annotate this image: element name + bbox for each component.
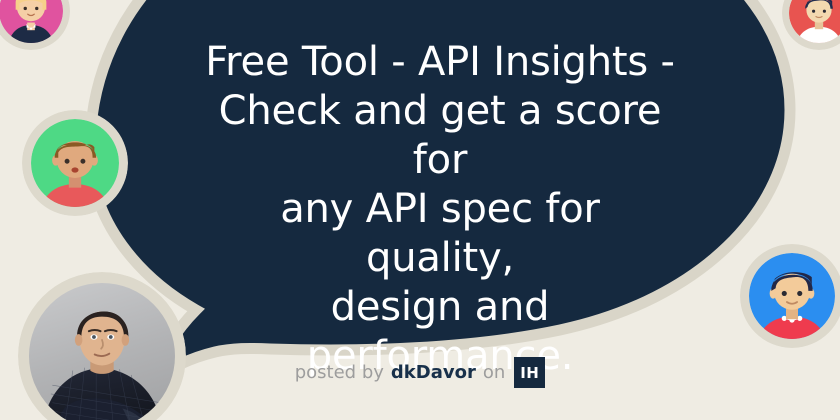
- indie-hackers-badge[interactable]: IH: [514, 357, 545, 388]
- author-name[interactable]: dkDavor: [391, 362, 476, 383]
- social-share-card: Free Tool - API Insights - Check and get…: [0, 0, 840, 420]
- avatar-illustration-blue: [749, 253, 835, 339]
- avatar-photo-area: [31, 119, 119, 207]
- avatar-blue[interactable]: [740, 244, 840, 348]
- avatar-photo-area: [29, 283, 175, 420]
- on-label: on: [483, 362, 505, 383]
- bubble-message: Free Tool - API Insights - Check and get…: [205, 38, 675, 381]
- avatar-illustration-green: [31, 119, 119, 207]
- avatar-photo-area: [749, 253, 835, 339]
- author-portrait-photo: [29, 283, 175, 420]
- avatar-green[interactable]: [22, 110, 128, 216]
- posted-by-label: posted by: [295, 362, 384, 383]
